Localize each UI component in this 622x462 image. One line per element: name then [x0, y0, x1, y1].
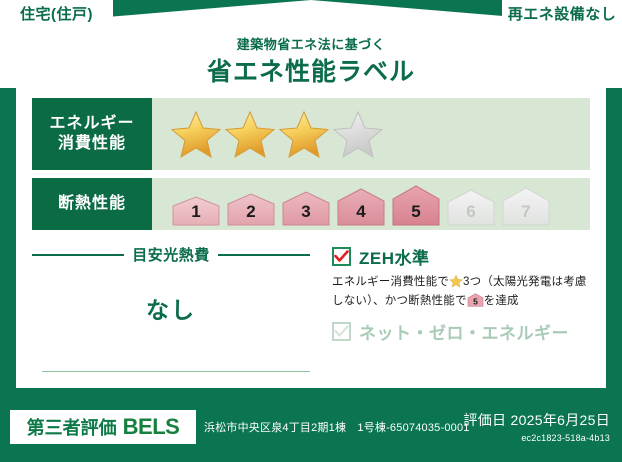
property-address: 浜松市中央区泉4丁目2期1棟 1号棟-65074035-0001: [204, 419, 470, 435]
bels-logo-jp: 第三者評価: [27, 414, 117, 440]
net-zero-energy-line: ネット・ゼロ・エネルギー: [332, 319, 590, 344]
tag-renewable-equipment: 再エネ設備なし: [502, 0, 622, 27]
zeh-desc-part4: を達成: [484, 295, 519, 307]
label-subtitle: 建築物省エネ法に基づく: [0, 34, 622, 53]
insulation-label-text: 断熱性能: [58, 194, 126, 214]
house-level-number: 4: [335, 202, 387, 222]
house-icon-level-6: 6: [445, 186, 497, 226]
energy-performance-label: 建築物省エネ法に基づく 省エネ性能ラベル 住宅(住戸) 再エネ設備なし エネルギ…: [0, 0, 622, 462]
zeh-desc-part1: エネルギー消費性能で: [332, 276, 449, 288]
zeh-standard-label: ZEH水準: [359, 244, 430, 269]
insulation-performance-label: 断熱性能: [32, 178, 152, 230]
zeh-standard-line: ZEH水準: [332, 244, 590, 269]
house-level-number: 2: [225, 202, 277, 222]
utility-cost-bottom-rule: [42, 371, 310, 372]
house-level-number: 1: [170, 202, 222, 222]
star-icon-filled-2: [224, 109, 276, 159]
star-icon-filled-3: [278, 109, 330, 159]
house-icon-level-7: 7: [500, 184, 552, 226]
star-icon-inline: [449, 274, 463, 288]
house-icon-level-4: 4: [335, 185, 387, 226]
house-level-number: 3: [280, 202, 332, 222]
energy-label-line1: エネルギー: [49, 114, 134, 134]
utility-cost-header: 目安光熱費: [32, 244, 310, 265]
utility-cost-title: 目安光熱費: [124, 244, 218, 265]
evaluation-info: 評価日 2025年6月25日 ec2c1823-518a-4b13: [463, 410, 610, 443]
energy-performance-label: エネルギー 消費性能: [32, 98, 152, 170]
evaluation-date: 評価日 2025年6月25日: [463, 410, 610, 430]
lower-section: 目安光熱費 なし ZEH水準 エネルギー消費性能で 3つ（太陽光発電は考慮しない…: [32, 240, 590, 390]
zeh-description: エネルギー消費性能で 3つ（太陽光発電は考慮しない）、かつ断熱性能で 5 を達成: [332, 274, 590, 311]
zeh-section: ZEH水準 エネルギー消費性能で 3つ（太陽光発電は考慮しない）、かつ断熱性能で…: [310, 240, 590, 390]
insulation-performance-row: 断熱性能 1 2 3: [32, 178, 590, 230]
star-icon-empty-4: [332, 109, 384, 159]
star-icon-filled-1: [170, 109, 222, 159]
star-rating: [152, 98, 590, 170]
evaluation-code: ec2c1823-518a-4b13: [463, 433, 610, 443]
divider-right: [218, 254, 310, 256]
house-icon-level-1: 1: [170, 192, 222, 226]
checkbox-checked-icon: [332, 247, 351, 266]
utility-cost-section: 目安光熱費 なし: [32, 240, 310, 390]
bels-logo-en: BELS: [123, 414, 180, 440]
label-card: エネルギー 消費性能 断熱性能: [16, 88, 606, 388]
divider-left: [32, 254, 124, 256]
bels-logo: 第三者評価 BELS: [10, 410, 196, 444]
zeh-desc-part2: 3つ（太陽光発電: [463, 276, 552, 288]
utility-cost-value: なし: [32, 291, 310, 325]
house-level-number: 5: [390, 202, 442, 222]
label-title: 省エネ性能ラベル: [0, 52, 622, 88]
house-icon-inline-badge: 5: [467, 292, 484, 307]
label-footer: 第三者評価 BELS 浜松市中央区泉4丁目2期1棟 1号棟-65074035-0…: [0, 400, 622, 462]
house-level-number: 7: [500, 202, 552, 222]
house-icon-level-5: 5: [390, 182, 442, 226]
house-icon-level-3: 3: [280, 188, 332, 226]
insulation-levels: 1 2 3 4 5: [152, 178, 590, 230]
house-level-number: 6: [445, 202, 497, 222]
svg-text:5: 5: [473, 296, 478, 306]
house-icon-level-2: 2: [225, 190, 277, 226]
net-zero-energy-label: ネット・ゼロ・エネルギー: [359, 319, 569, 344]
tag-building-type: 住宅(住戸): [0, 0, 113, 27]
energy-performance-row: エネルギー 消費性能: [32, 98, 590, 170]
checkbox-unchecked-icon: [332, 322, 351, 341]
energy-label-line2: 消費性能: [58, 134, 126, 154]
